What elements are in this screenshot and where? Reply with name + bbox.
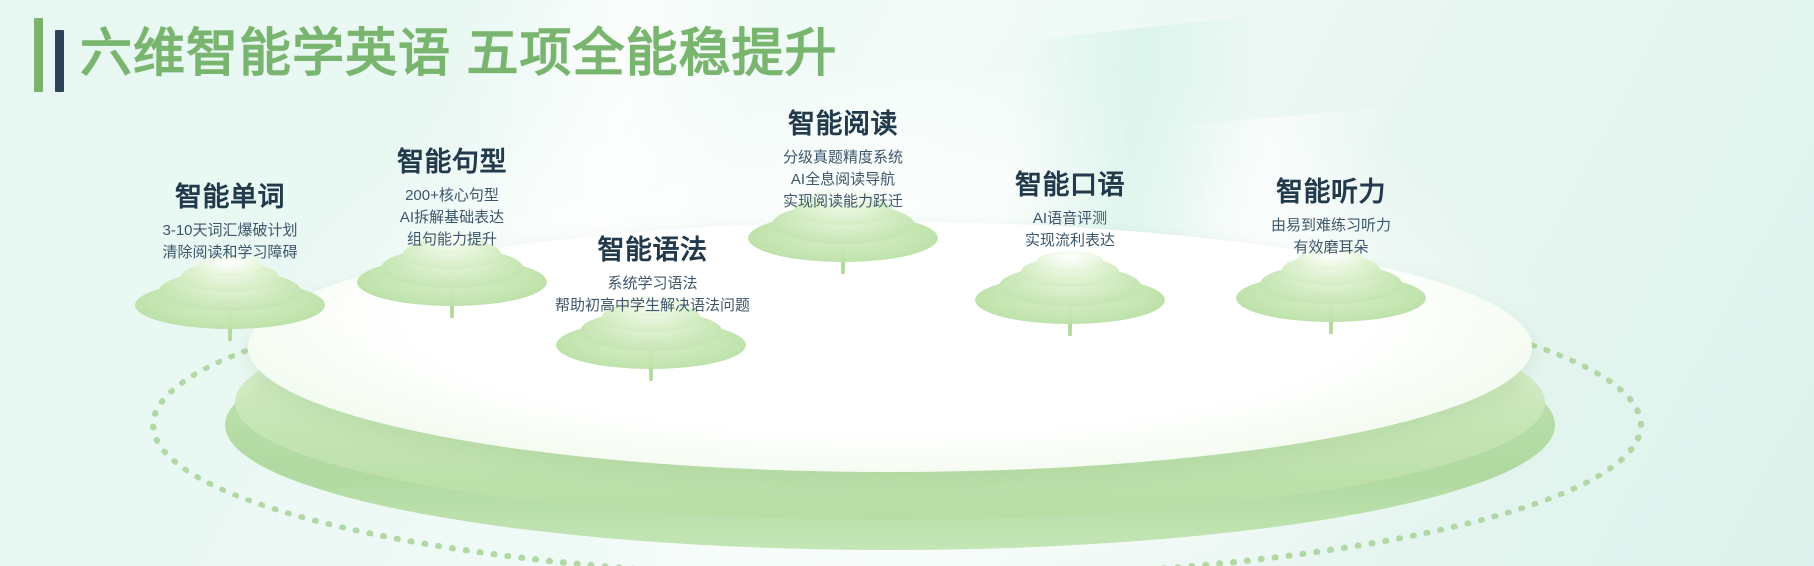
module-grammar-line-2: 帮助初高中学生解决语法问题 — [545, 295, 760, 317]
module-reading-line-2: AI全息阅读导航 — [743, 169, 943, 191]
podium-word — [135, 255, 325, 329]
podium-speaking — [975, 250, 1165, 324]
module-word[interactable] — [135, 255, 325, 329]
module-listening-label: 智能听力 由易到难练习听力 有效磨耳朵 — [1231, 170, 1431, 259]
module-word-heading: 智能单词 — [130, 175, 330, 214]
module-sentence-line-2: AI拆解基础表达 — [352, 207, 552, 229]
module-listening[interactable] — [1236, 248, 1426, 322]
module-speaking-heading: 智能口语 — [970, 163, 1170, 202]
module-grammar-label: 智能语法 系统学习语法 帮助初高中学生解决语法问题 — [545, 228, 760, 317]
module-grammar-heading: 智能语法 — [545, 228, 760, 267]
module-reading-heading: 智能阅读 — [743, 102, 943, 141]
module-word-line-2: 清除阅读和学习障碍 — [130, 242, 330, 264]
module-reading-line-1: 分级真题精度系统 — [743, 147, 943, 169]
module-sentence-label: 智能句型 200+核心句型 AI拆解基础表达 组句能力提升 — [352, 140, 552, 250]
module-speaking[interactable] — [975, 250, 1165, 324]
module-reading-line-3: 实现阅读能力跃迁 — [743, 191, 943, 213]
module-listening-line-1: 由易到难练习听力 — [1231, 215, 1431, 237]
module-word-label: 智能单词 3-10天词汇爆破计划 清除阅读和学习障碍 — [130, 175, 330, 264]
module-word-line-1: 3-10天词汇爆破计划 — [130, 220, 330, 242]
podium-disc-top — [1037, 251, 1103, 271]
module-sentence-line-3: 组句能力提升 — [352, 229, 552, 251]
infographic-canvas: 六维智能学英语 五项全能稳提升 智能单词 3-10天词汇爆破计划 清除阅读和学习… — [0, 0, 1814, 566]
module-listening-line-2: 有效磨耳朵 — [1231, 237, 1431, 259]
module-listening-heading: 智能听力 — [1231, 170, 1431, 209]
module-sentence-line-1: 200+核心句型 — [352, 185, 552, 207]
module-sentence-heading: 智能句型 — [352, 140, 552, 179]
module-speaking-line-2: 实现流利表达 — [970, 230, 1170, 252]
module-speaking-line-1: AI语音评测 — [970, 208, 1170, 230]
module-speaking-label: 智能口语 AI语音评测 实现流利表达 — [970, 163, 1170, 252]
module-reading-label: 智能阅读 分级真题精度系统 AI全息阅读导航 实现阅读能力跃迁 — [743, 102, 943, 212]
module-grammar-line-1: 系统学习语法 — [545, 273, 760, 295]
podium-listening — [1236, 248, 1426, 322]
